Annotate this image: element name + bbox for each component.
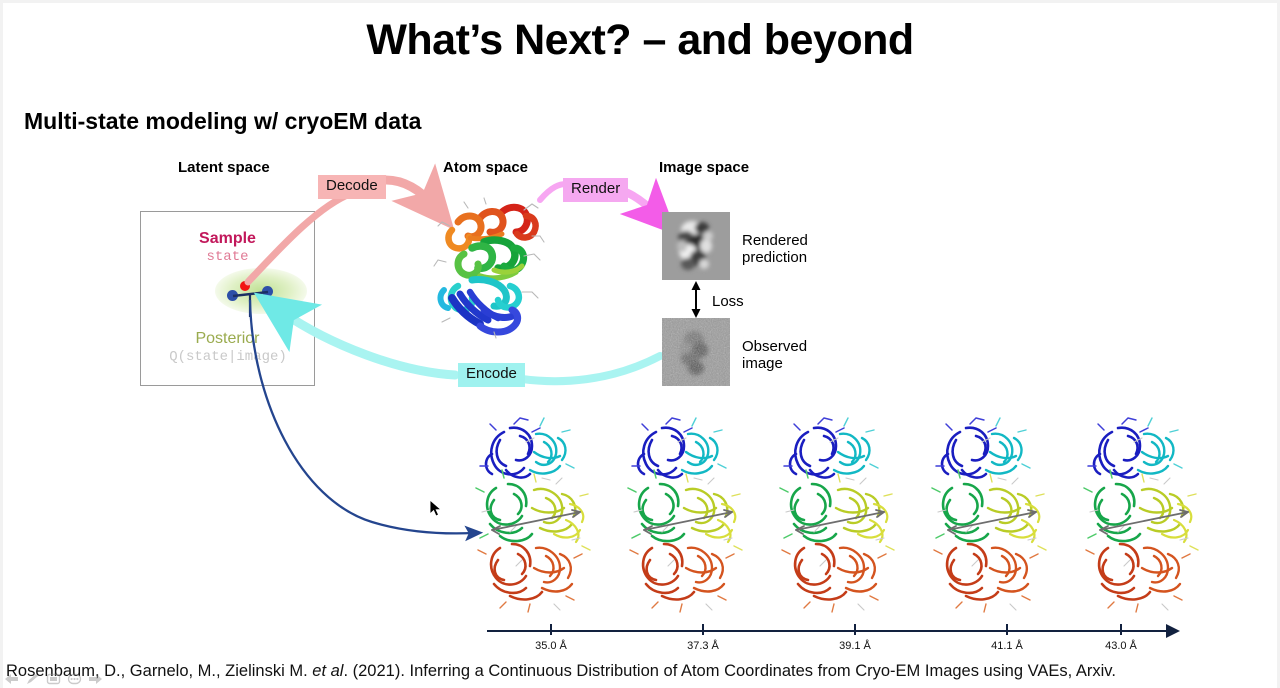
top-edge-bar (0, 0, 1280, 3)
left-edge-bar (0, 0, 3, 688)
slide-subtitle: Multi-state modeling w/ cryoEM data (24, 108, 421, 135)
axis-tick-2 (702, 624, 704, 635)
latent-point-sample-red (240, 281, 250, 291)
observed-image-caption: Observed image (742, 338, 807, 373)
observed-image-thumbnail (662, 318, 730, 386)
citation-text: Rosenbaum, D., Garnelo, M., Zielinski M.… (6, 662, 1276, 681)
decode-label-chip: Decode (318, 175, 386, 199)
conformation-series (470, 408, 1200, 613)
axis-tick-label-3: 39.1 Å (820, 640, 890, 652)
rendered-prediction-thumbnail (662, 212, 730, 280)
axis-tick-1 (550, 624, 552, 635)
observed-caption-line-1: Observed (742, 338, 807, 355)
sample-variable-label: state (140, 249, 315, 265)
axis-tick-label-2: 37.3 Å (668, 640, 738, 652)
mouse-cursor (429, 499, 443, 518)
latent-point-blue-left (227, 290, 238, 301)
distance-axis-line (487, 630, 1169, 632)
more-options-icon[interactable] (66, 672, 83, 686)
axis-tick-4 (1006, 624, 1008, 635)
presentation-controls-bar[interactable] (3, 671, 104, 687)
posterior-formula: Q(state|image) (128, 349, 328, 365)
sample-label: Sample (140, 230, 315, 248)
slide-thumbnails-icon[interactable] (45, 672, 62, 686)
rendered-caption-line-2: prediction (742, 249, 808, 266)
axis-tick-label-1: 35.0 Å (516, 640, 586, 652)
column-header-latent-space: Latent space (178, 159, 270, 176)
axis-tick-label-4: 41.1 Å (972, 640, 1042, 652)
conformation-structure-1 (470, 408, 595, 613)
conformation-structure-2 (622, 408, 747, 613)
citation-rest: . (2021). Inferring a Continuous Distrib… (343, 662, 1115, 680)
encode-label-chip: Encode (458, 363, 525, 387)
rendered-prediction-caption: Rendered prediction (742, 232, 808, 267)
conformation-structure-5 (1078, 408, 1203, 613)
conformation-structure-3 (774, 408, 899, 613)
loss-label: Loss (712, 293, 744, 310)
pen-tool-icon[interactable] (24, 672, 41, 686)
render-label-chip: Render (563, 178, 628, 202)
rendered-caption-line-1: Rendered (742, 232, 808, 249)
next-slide-icon[interactable] (87, 672, 104, 686)
conformation-structure-4 (926, 408, 1051, 613)
column-header-image-space: Image space (659, 159, 749, 176)
previous-slide-icon[interactable] (3, 672, 20, 686)
latent-point-blue-right (262, 286, 273, 297)
axis-tick-3 (854, 624, 856, 635)
posterior-label: Posterior (140, 330, 315, 348)
citation-etal: et al (312, 662, 343, 680)
axis-tick-label-5: 43.0 Å (1086, 640, 1156, 652)
observed-caption-line-2: image (742, 355, 807, 372)
slide-canvas: What’s Next? – and beyond Multi-state mo… (0, 0, 1280, 688)
distance-axis-arrowhead (1166, 624, 1180, 638)
axis-tick-5 (1120, 624, 1122, 635)
atom-space-protein-ribbon (428, 192, 558, 340)
slide-title: What’s Next? – and beyond (0, 16, 1280, 65)
column-header-atom-space: Atom space (443, 159, 528, 176)
